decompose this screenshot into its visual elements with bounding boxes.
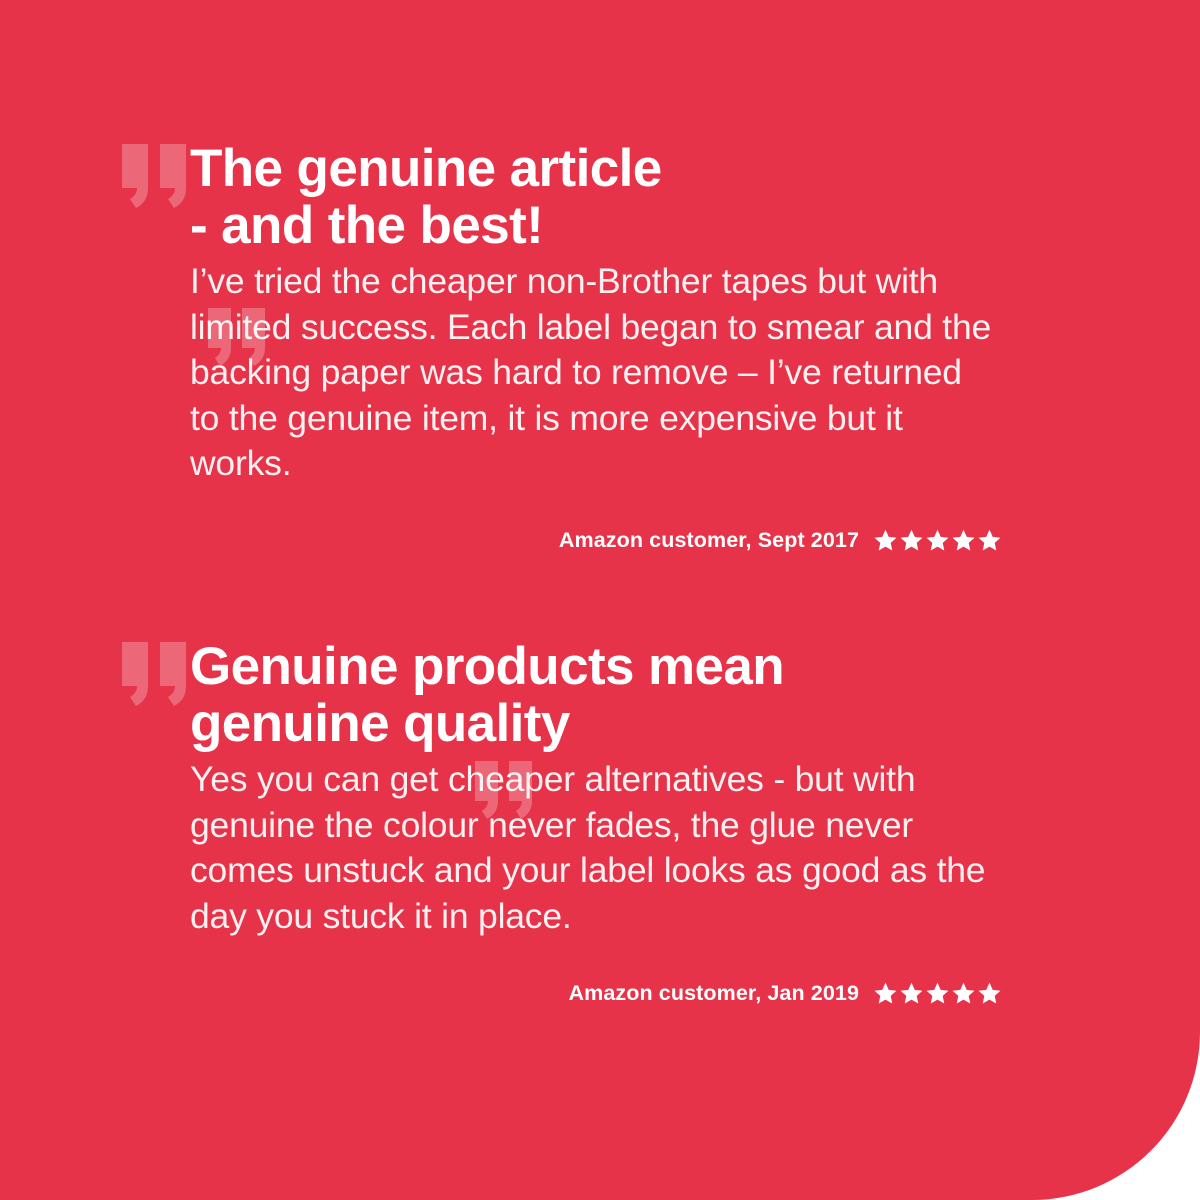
star-icon [899,528,924,553]
star-icon [873,528,898,553]
star-icon [977,528,1002,553]
testimonial-1-body: The genuine article - and the best! I’ve… [190,140,1000,487]
testimonial-1-text: I’ve tried the cheaper non-Brother tapes… [190,259,1000,487]
testimonial-2-attribution-label: Amazon customer, Jan 2019 [569,980,859,1006]
testimonial-2-attribution: Amazon customer, Jan 2019 [0,980,1200,1006]
testimonial-card: The genuine article - and the best! I’ve… [0,0,1200,1200]
star-icon [873,981,898,1006]
close-quote-icon [472,758,538,826]
testimonial-2-text: Yes you can get cheaper alternatives - b… [190,757,1000,939]
star-icon [951,528,976,553]
testimonial-1-attribution-label: Amazon customer, Sept 2017 [559,527,859,553]
open-quote-icon [118,638,192,714]
testimonial-1-attribution: Amazon customer, Sept 2017 [0,527,1200,553]
testimonial-2-heading: Genuine products mean genuine quality [190,638,1000,752]
star-icon [977,981,1002,1006]
testimonial-1: The genuine article - and the best! I’ve… [0,140,1200,487]
testimonial-2-rating-stars [873,981,1002,1006]
testimonial-2: Genuine products mean genuine quality Ye… [0,638,1200,939]
testimonial-1-rating-stars [873,528,1002,553]
star-icon [899,981,924,1006]
star-icon [925,528,950,553]
open-quote-icon [118,140,192,216]
star-icon [925,981,950,1006]
testimonial-1-heading: The genuine article - and the best! [190,140,1000,254]
testimonial-2-body: Genuine products mean genuine quality Ye… [190,638,1000,939]
star-icon [951,981,976,1006]
close-quote-icon [205,305,271,373]
